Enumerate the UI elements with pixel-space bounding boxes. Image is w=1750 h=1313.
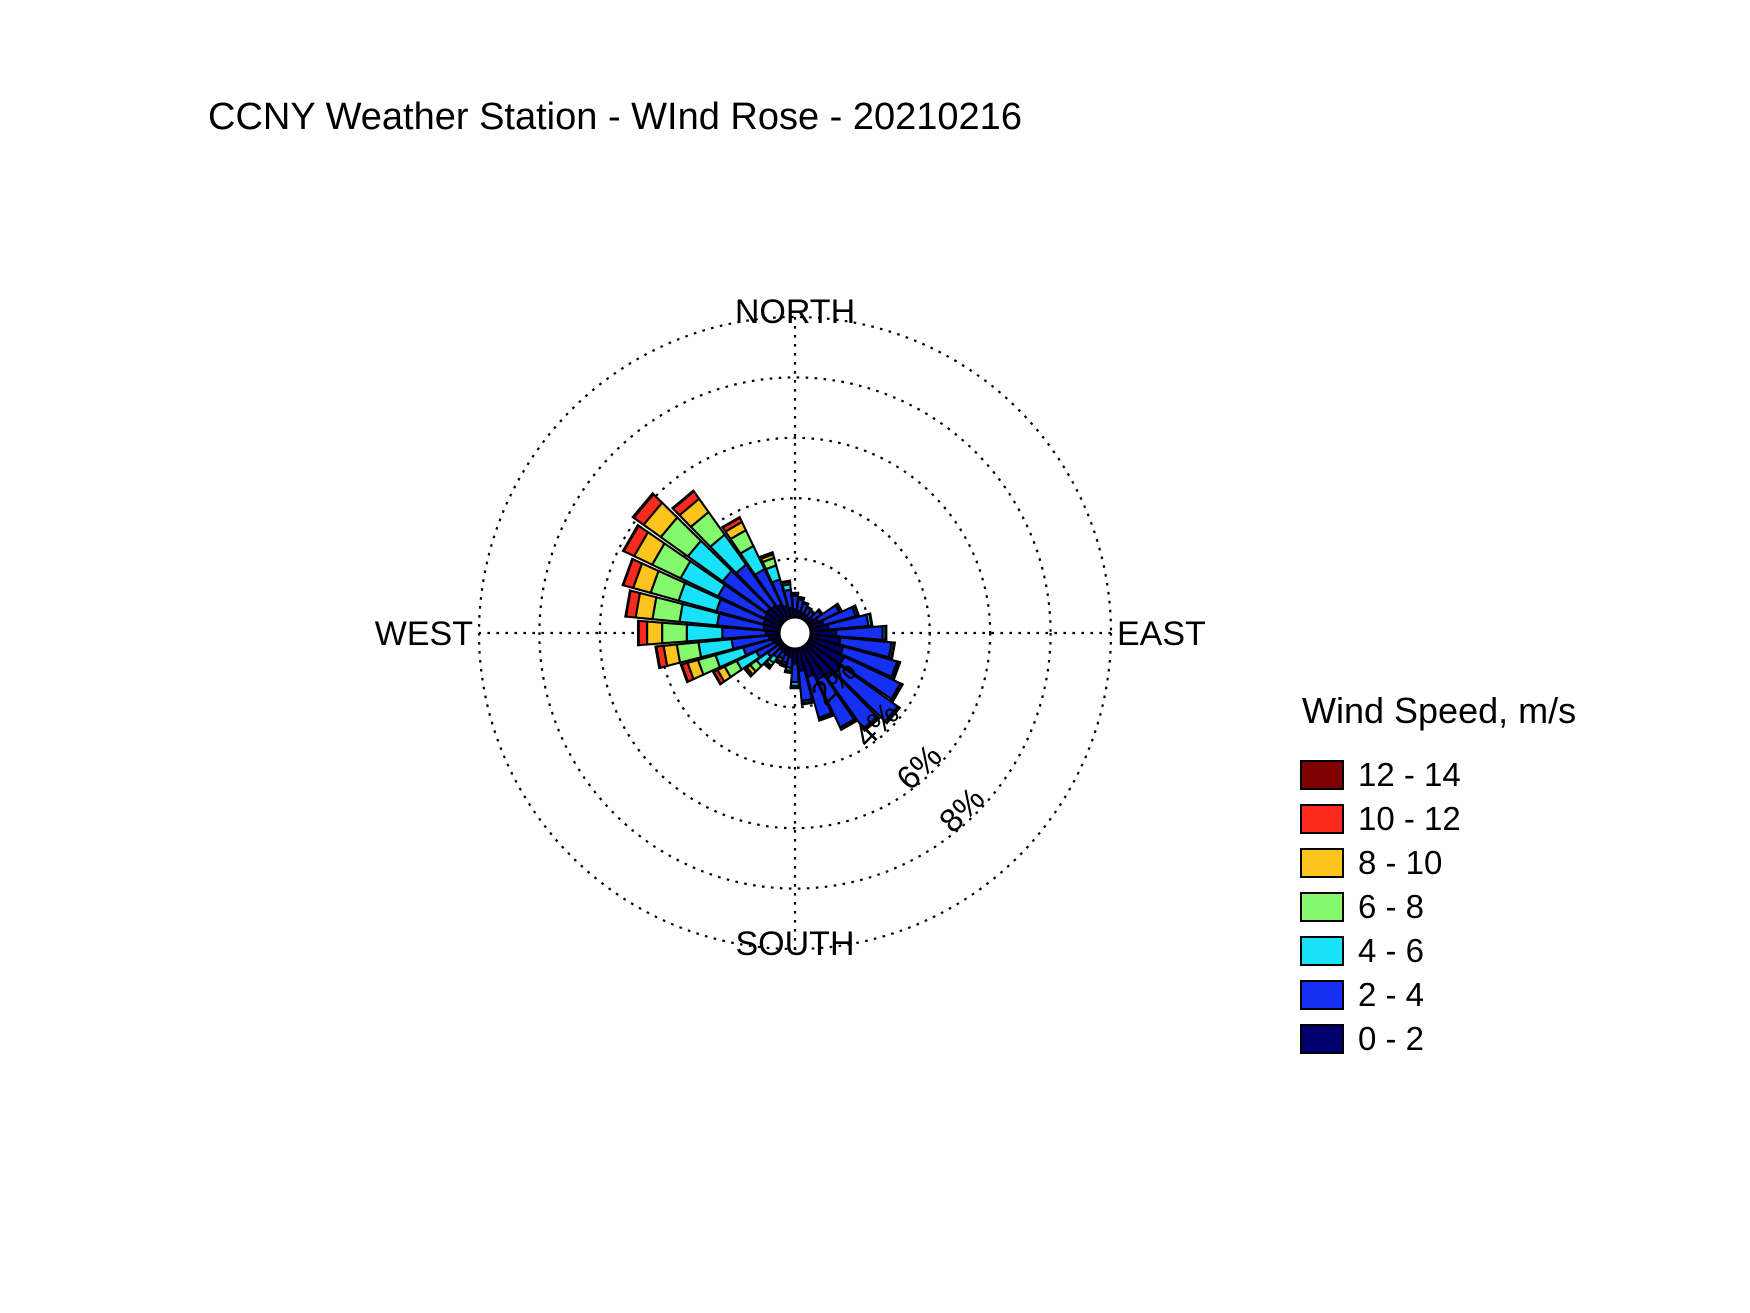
legend-label: 10 - 12: [1358, 800, 1461, 838]
legend-swatch: [1300, 892, 1344, 922]
compass-label-north: NORTH: [735, 293, 855, 331]
legend-label: 2 - 4: [1358, 976, 1424, 1014]
legend-rows: 12 - 1410 - 128 - 106 - 84 - 62 - 40 - 2: [1300, 754, 1740, 1060]
wind-rose-petal: [647, 621, 662, 644]
legend-label: 4 - 6: [1358, 932, 1424, 970]
wind-rose-petal: [638, 621, 639, 645]
legend-item: 0 - 2: [1300, 1018, 1740, 1060]
legend-item: 2 - 4: [1300, 974, 1740, 1016]
wind-rose-petal: [639, 621, 647, 645]
wind-rose-petal: [687, 625, 723, 642]
wind-rose-petal: [785, 672, 791, 673]
compass-label-south: SOUTH: [736, 925, 855, 963]
legend-swatch: [1300, 760, 1344, 790]
wind-rose-svg: NORTHSOUTHEASTWEST2%4%6%8%: [0, 0, 1230, 1150]
legend-label: 12 - 14: [1358, 756, 1461, 794]
wind-rose-petal: [782, 581, 790, 583]
compass-label-west: WEST: [375, 615, 473, 653]
wind-rose-plot: NORTHSOUTHEASTWEST2%4%6%8%: [0, 0, 1230, 1150]
legend-swatch: [1300, 980, 1344, 1010]
petal-layer: [623, 491, 903, 731]
legend-item: 4 - 6: [1300, 930, 1740, 972]
wind-rose-petal: [798, 597, 804, 598]
legend-swatch: [1300, 936, 1344, 966]
legend-swatch: [1300, 848, 1344, 878]
legend-label: 6 - 8: [1358, 888, 1424, 926]
compass-label-east: EAST: [1117, 615, 1206, 653]
wind-rose-figure: CCNY Weather Station - WInd Rose - 20210…: [0, 0, 1750, 1313]
legend-swatch: [1300, 804, 1344, 834]
center-hub: [781, 619, 809, 647]
legend-item: 8 - 10: [1300, 842, 1740, 884]
wind-rose-petal: [662, 623, 687, 644]
legend-label: 8 - 10: [1358, 844, 1442, 882]
legend-label: 0 - 2: [1358, 1020, 1424, 1058]
legend-item: 6 - 8: [1300, 886, 1740, 928]
legend-title: Wind Speed, m/s: [1302, 690, 1740, 732]
legend-item: 12 - 14: [1300, 754, 1740, 796]
legend-item: 10 - 12: [1300, 798, 1740, 840]
legend: Wind Speed, m/s 12 - 1410 - 128 - 106 - …: [1300, 690, 1740, 1062]
radial-tick-label: 6%: [889, 737, 949, 797]
legend-swatch: [1300, 1024, 1344, 1054]
radial-tick-label: 8%: [932, 780, 992, 840]
